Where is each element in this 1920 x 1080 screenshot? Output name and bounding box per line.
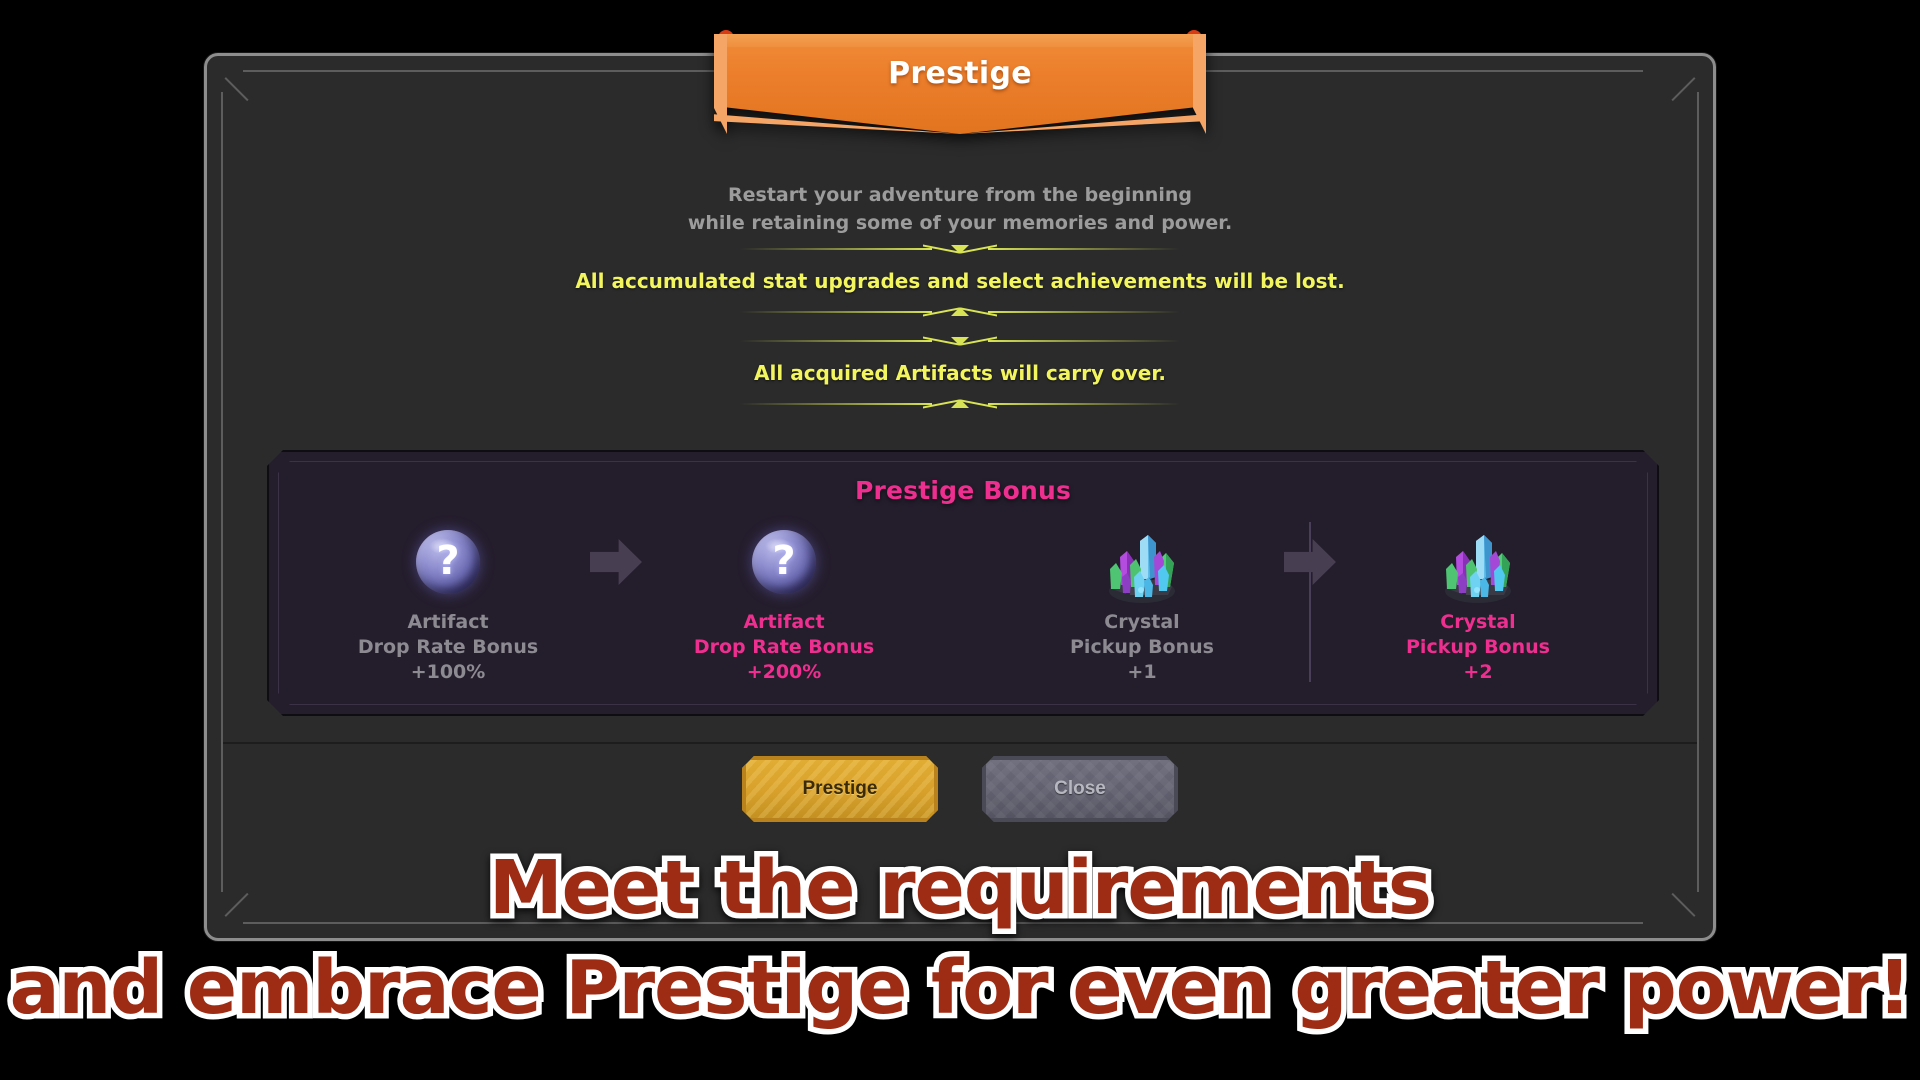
- arrow-right-icon: [573, 514, 659, 610]
- footer-divider: [223, 742, 1697, 744]
- bonus-label-line-1: Crystal: [1406, 610, 1550, 635]
- screen: Prestige Restart your adventure from the…: [0, 0, 1920, 1080]
- dialog-footer: Prestige Close: [207, 756, 1713, 822]
- warning-block-1: All accumulated stat upgrades and select…: [207, 242, 1713, 319]
- bonus-group-crystal: Crystal Pickup Bonus +1: [963, 514, 1657, 685]
- crystal-cluster-icon: [1353, 514, 1603, 610]
- bonus-before-crystal: Crystal Pickup Bonus +1: [1017, 514, 1267, 685]
- bonus-before-artifact-text: Artifact Drop Rate Bonus +100%: [358, 610, 538, 685]
- frame-corner-top-left: [221, 70, 291, 140]
- caption-line-2: and embrace Prestige for even greater po…: [0, 938, 1920, 1038]
- divider-ornament-top-1: [740, 242, 1180, 256]
- divider-ornament-bottom-1: [740, 305, 1180, 319]
- bonus-label-line-2: Pickup Bonus: [1406, 635, 1550, 660]
- bonus-label-line-2: Drop Rate Bonus: [694, 635, 874, 660]
- crystal-cluster-icon: [1017, 514, 1267, 610]
- warning-block-2: All acquired Artifacts will carry over.: [207, 334, 1713, 411]
- bonus-group-artifact: Artifact Drop Rate Bonus +100% Art: [269, 514, 963, 685]
- bonus-label-line-1: Crystal: [1070, 610, 1214, 635]
- bonus-group-separator: [1309, 522, 1311, 682]
- bonus-before-crystal-text: Crystal Pickup Bonus +1: [1070, 610, 1214, 685]
- bonus-rows: Artifact Drop Rate Bonus +100% Art: [269, 514, 1657, 704]
- dialog-title-banner: Prestige: [714, 34, 1206, 134]
- bonus-value: +1: [1070, 660, 1214, 685]
- close-button[interactable]: Close: [982, 756, 1178, 822]
- bonus-after-crystal-text: Crystal Pickup Bonus +2: [1406, 610, 1550, 685]
- divider-ornament-top-2: [740, 334, 1180, 348]
- tutorial-caption: Meet the requirements and embrace Presti…: [0, 838, 1920, 1038]
- warning-text-2: All acquired Artifacts will carry over.: [207, 348, 1713, 397]
- artifact-orb-icon: [323, 514, 573, 610]
- artifact-orb-icon: [659, 514, 909, 610]
- bonus-after-crystal: Crystal Pickup Bonus +2: [1353, 514, 1603, 685]
- bonus-after-artifact-text: Artifact Drop Rate Bonus +200%: [694, 610, 874, 685]
- bonus-label-line-1: Artifact: [694, 610, 874, 635]
- warning-text-1: All accumulated stat upgrades and select…: [207, 256, 1713, 305]
- bonus-value: +200%: [694, 660, 874, 685]
- bonus-value: +2: [1406, 660, 1550, 685]
- description-line-1: Restart your adventure from the beginnin…: [207, 181, 1713, 209]
- prestige-button[interactable]: Prestige: [742, 756, 938, 822]
- banner-highlight: [714, 34, 1206, 47]
- bonus-label-line-1: Artifact: [358, 610, 538, 635]
- prestige-dialog: Prestige Restart your adventure from the…: [204, 53, 1716, 941]
- bonus-label-line-2: Drop Rate Bonus: [358, 635, 538, 660]
- prestige-bonus-panel: Prestige Bonus Artifact Drop Rate Bonus …: [267, 450, 1659, 716]
- bonus-after-artifact: Artifact Drop Rate Bonus +200%: [659, 514, 909, 685]
- caption-line-1: Meet the requirements: [0, 838, 1920, 938]
- bonus-before-artifact: Artifact Drop Rate Bonus +100%: [323, 514, 573, 685]
- dialog-title: Prestige: [714, 56, 1206, 91]
- frame-corner-top-right: [1629, 70, 1699, 140]
- bonus-value: +100%: [358, 660, 538, 685]
- description-line-2: while retaining some of your memories an…: [207, 209, 1713, 237]
- divider-ornament-bottom-2: [740, 397, 1180, 411]
- bonus-panel-title: Prestige Bonus: [269, 476, 1657, 505]
- bonus-label-line-2: Pickup Bonus: [1070, 635, 1214, 660]
- dialog-description: Restart your adventure from the beginnin…: [207, 181, 1713, 237]
